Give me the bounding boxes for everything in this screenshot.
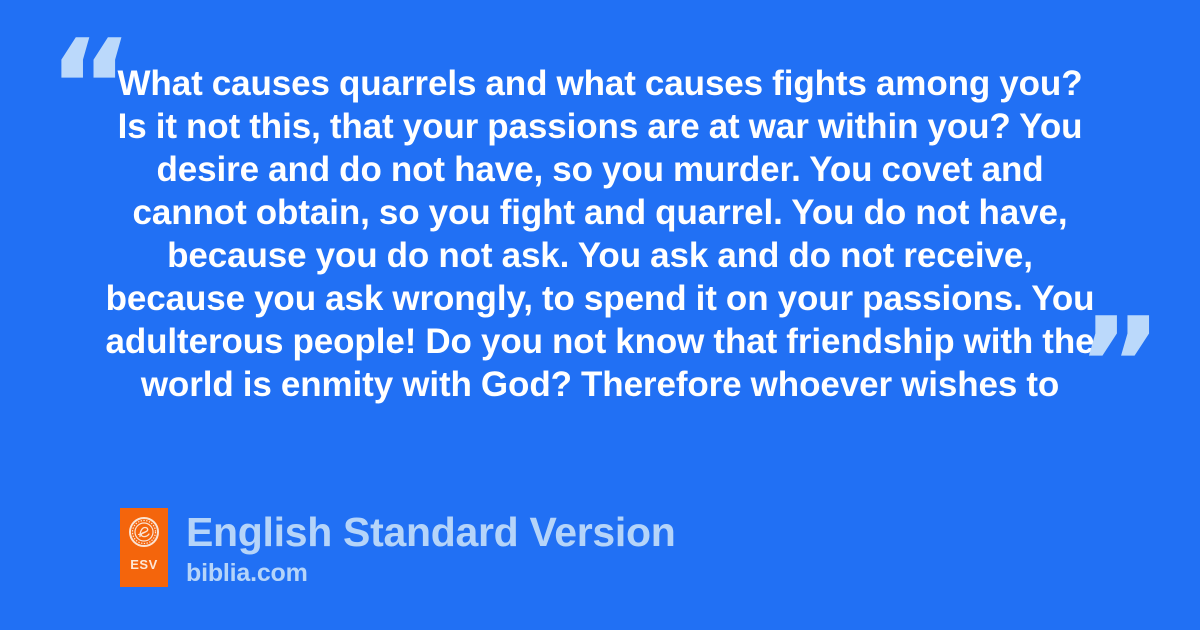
- bible-version-title: English Standard Version: [186, 509, 675, 556]
- attribution-text-group: English Standard Version biblia.com: [186, 508, 675, 588]
- site-url: biblia.com: [186, 558, 675, 588]
- quote-block: What causes quarrels and what causes fig…: [100, 62, 1100, 406]
- verse-text: What causes quarrels and what causes fig…: [100, 62, 1100, 406]
- attribution: ESV English Standard Version biblia.com: [120, 508, 675, 588]
- bible-verse-card: “ What causes quarrels and what causes f…: [0, 0, 1200, 630]
- esv-logo: ESV: [120, 508, 168, 587]
- closing-quote-mark: ”: [1077, 300, 1161, 430]
- esv-logo-label: ESV: [130, 558, 158, 571]
- esv-seal-icon: [129, 517, 159, 547]
